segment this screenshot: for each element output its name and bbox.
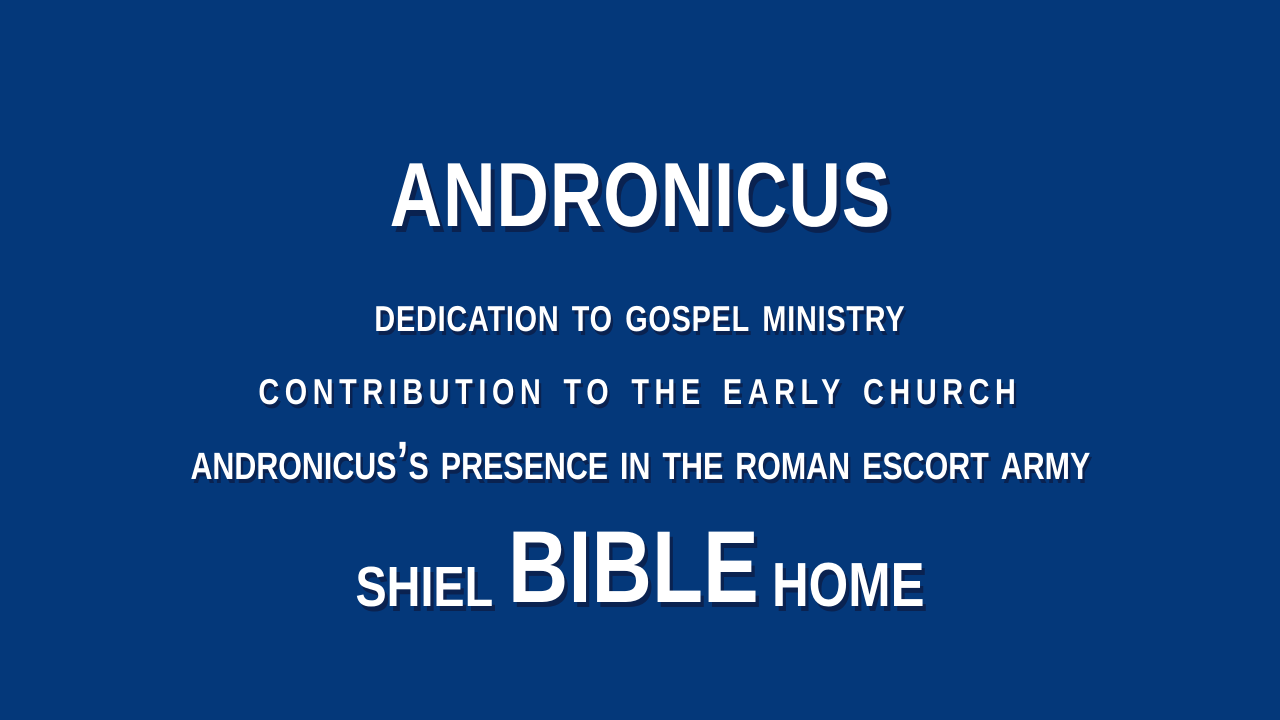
subtitle-line-contribution: Contribution to the Early Church xyxy=(258,361,1021,414)
title-container: Andronicus xyxy=(0,116,1280,226)
subtitle-line-presence: Andronicus’s Presence in the Roman Escor… xyxy=(190,434,1090,489)
title-slide: Andronicus Dedication to Gospel Ministry… xyxy=(0,0,1280,720)
brand-main-word: BIBLE xyxy=(508,524,759,612)
subtitle-list: Dedication to Gospel Ministry Contributi… xyxy=(0,288,1280,489)
brand-prefix: shiel xyxy=(356,563,494,612)
brand-suffix: home xyxy=(772,559,925,612)
brand-logo: shiel BIBLE home xyxy=(115,512,1165,612)
subtitle-line-dedication: Dedication to Gospel Ministry xyxy=(375,288,906,341)
page-title: Andronicus xyxy=(389,116,890,246)
